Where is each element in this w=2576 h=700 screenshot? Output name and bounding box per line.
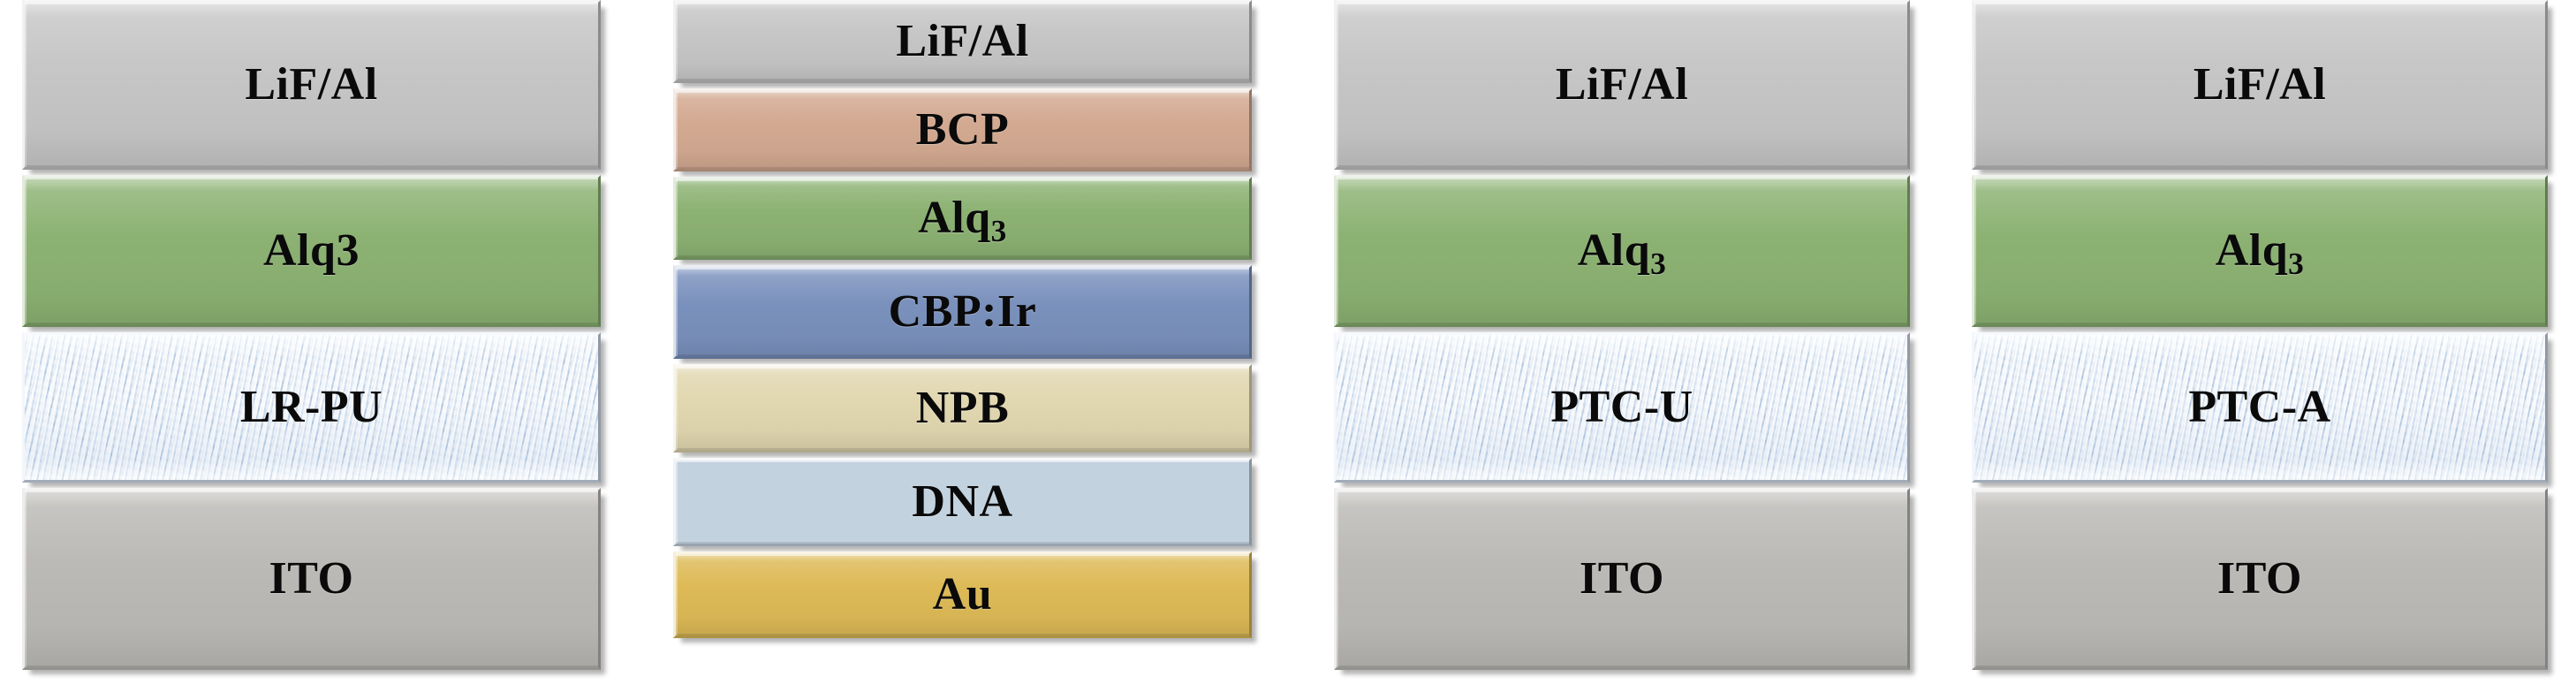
layer-label: BCP <box>916 107 1010 153</box>
layer-emissive-host: CBP:Ir <box>673 265 1252 359</box>
layer-emissive: Alq3 <box>1972 175 2548 327</box>
layer-hole-transport: NPB <box>673 364 1252 453</box>
layer-anode: ITO <box>1334 488 1910 670</box>
layer-emissive: Alq3 <box>22 175 601 327</box>
layer-cathode: LiF/Al <box>673 0 1252 83</box>
layer-label-subscript: 3 <box>1650 246 1666 281</box>
layer-label: Alq3 <box>1578 228 1667 274</box>
layer-biopolymer: DNA <box>673 458 1252 546</box>
layer-label: ITO <box>2217 556 2302 602</box>
layer-label: Alq3 <box>263 228 360 274</box>
layer-label: LR-PU <box>240 384 383 430</box>
layer-electron-transport: Alq3 <box>673 177 1252 260</box>
layer-label: PTC-U <box>1550 384 1693 430</box>
layer-hole-transport: PTC-A <box>1972 332 2548 483</box>
layer-anode: ITO <box>1972 488 2548 670</box>
layer-label: PTC-A <box>2188 384 2330 430</box>
device-stack-lr-pu-device: LiF/AlAlq3LR-PUITO <box>22 0 601 700</box>
layer-label: ITO <box>1580 556 1664 602</box>
layer-hole-transport: LR-PU <box>22 332 601 483</box>
layer-label: LiF/Al <box>1556 62 1688 108</box>
layer-cathode: LiF/Al <box>1972 0 2548 170</box>
layer-emissive: Alq3 <box>1334 175 1910 327</box>
layer-hole-blocking: BCP <box>673 88 1252 171</box>
layer-label: ITO <box>269 556 354 602</box>
layer-label: DNA <box>912 479 1012 525</box>
device-stack-ptc-u-device: LiF/AlAlq3PTC-UITO <box>1334 0 1910 700</box>
layer-label-subscript: 3 <box>2288 246 2304 281</box>
layer-label: Au <box>933 572 992 618</box>
layer-anode: Au <box>673 552 1252 638</box>
layer-cathode: LiF/Al <box>1334 0 1910 170</box>
layer-label-subscript: 3 <box>991 213 1007 248</box>
device-stack-ptc-a-device: LiF/AlAlq3PTC-AITO <box>1972 0 2548 700</box>
layer-anode: ITO <box>22 488 601 670</box>
layer-label: Alq3 <box>918 195 1007 241</box>
layer-label: LiF/Al <box>2193 62 2326 108</box>
layer-cathode: LiF/Al <box>22 0 601 170</box>
device-stack-diagram: LiF/AlAlq3LR-PUITOLiF/AlBCPAlq3CBP:IrNPB… <box>0 0 2576 700</box>
layer-label: CBP:Ir <box>889 289 1037 335</box>
device-stack-dna-phosphorescent-device: LiF/AlBCPAlq3CBP:IrNPBDNAAu <box>673 0 1252 700</box>
layer-label: LiF/Al <box>896 19 1028 65</box>
layer-label: Alq3 <box>2216 228 2305 274</box>
layer-hole-transport: PTC-U <box>1334 332 1910 483</box>
layer-label: LiF/Al <box>245 62 377 108</box>
layer-label: NPB <box>916 385 1010 431</box>
